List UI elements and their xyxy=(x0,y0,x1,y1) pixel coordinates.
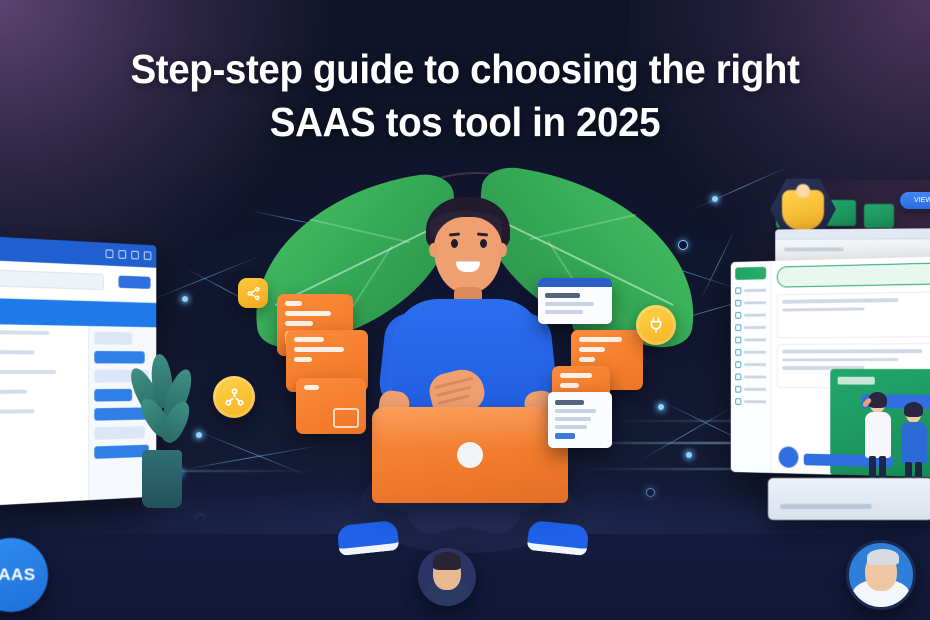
eye-left xyxy=(451,239,458,248)
primary-button[interactable] xyxy=(118,276,150,289)
bars-icon xyxy=(735,324,741,331)
title-line-1: Step-step guide to choosing the right xyxy=(39,43,891,95)
target-icon xyxy=(735,337,741,344)
chat-fab[interactable] xyxy=(779,446,799,468)
floating-card[interactable] xyxy=(296,378,366,434)
sidebar-item-7[interactable] xyxy=(735,361,766,368)
share-badge[interactable] xyxy=(238,278,268,308)
sidebar-logo xyxy=(735,267,766,280)
cart-icon[interactable] xyxy=(118,250,126,259)
droplet-icon xyxy=(735,287,741,294)
head xyxy=(434,217,502,293)
chart-icon xyxy=(735,300,741,307)
sidebar-item-3[interactable] xyxy=(735,312,766,319)
desk-right xyxy=(768,478,930,520)
plug-badge[interactable] xyxy=(636,305,676,345)
folder-icon xyxy=(735,386,741,393)
link-icon[interactable] xyxy=(131,251,139,260)
right-dashboard-sidebar xyxy=(731,261,772,473)
laptop-logo xyxy=(457,442,483,468)
network-icon xyxy=(224,387,245,408)
share-icon xyxy=(246,286,261,301)
sidebar-item-4[interactable] xyxy=(735,324,766,331)
bookmark-icon[interactable] xyxy=(144,251,151,260)
eye-right xyxy=(480,239,487,248)
network-badge[interactable] xyxy=(213,376,255,418)
table-row xyxy=(0,350,34,354)
document-icon xyxy=(735,361,741,368)
shoe-right xyxy=(527,520,590,556)
table-row xyxy=(0,370,57,374)
sidebar-item-2[interactable] xyxy=(735,299,766,306)
sidebar-item-10[interactable] xyxy=(735,398,766,405)
floating-window[interactable] xyxy=(548,392,612,448)
grid-icon xyxy=(735,349,741,356)
title-line-2: SAAS tos tool in 2025 xyxy=(39,96,891,148)
avatar-bottom-center[interactable] xyxy=(418,548,476,606)
shoe-left xyxy=(337,520,400,556)
stat-card xyxy=(777,291,930,338)
sidebar-item-5[interactable] xyxy=(735,336,766,343)
ear-left xyxy=(429,243,438,257)
sidebar-item-9[interactable] xyxy=(735,386,766,393)
menu-icon xyxy=(735,398,741,405)
sidebar-item-8[interactable] xyxy=(735,374,766,381)
potted-plant-left xyxy=(128,348,200,508)
ear-right xyxy=(498,243,507,257)
list-item xyxy=(94,389,132,402)
circle-icon xyxy=(735,312,741,319)
page-title: Step-step guide to choosing the right SA… xyxy=(0,43,930,148)
sidebar-item-1[interactable] xyxy=(735,287,766,294)
left-dashboard-toolbar xyxy=(0,260,156,303)
orange-laptop xyxy=(372,407,568,503)
left-dashboard-table xyxy=(0,324,88,506)
table-row xyxy=(0,390,27,394)
table-row xyxy=(0,330,49,335)
refresh-icon[interactable] xyxy=(106,249,114,258)
sidebar-item-6[interactable] xyxy=(735,349,766,356)
avatar-bottom-right[interactable] xyxy=(846,540,916,610)
calendar-icon xyxy=(735,374,741,381)
list-item xyxy=(94,332,132,345)
floating-window[interactable] xyxy=(538,278,612,324)
view-pill-button[interactable]: VIEW xyxy=(900,192,930,209)
hero-banner: Step-step guide to choosing the right SA… xyxy=(0,0,930,620)
left-dashboard-header-icons xyxy=(106,249,152,260)
search-pill[interactable] xyxy=(777,262,930,287)
table-row xyxy=(0,409,34,414)
plug-icon xyxy=(646,315,666,335)
search-input[interactable] xyxy=(0,269,104,290)
plant-pot xyxy=(142,450,182,508)
